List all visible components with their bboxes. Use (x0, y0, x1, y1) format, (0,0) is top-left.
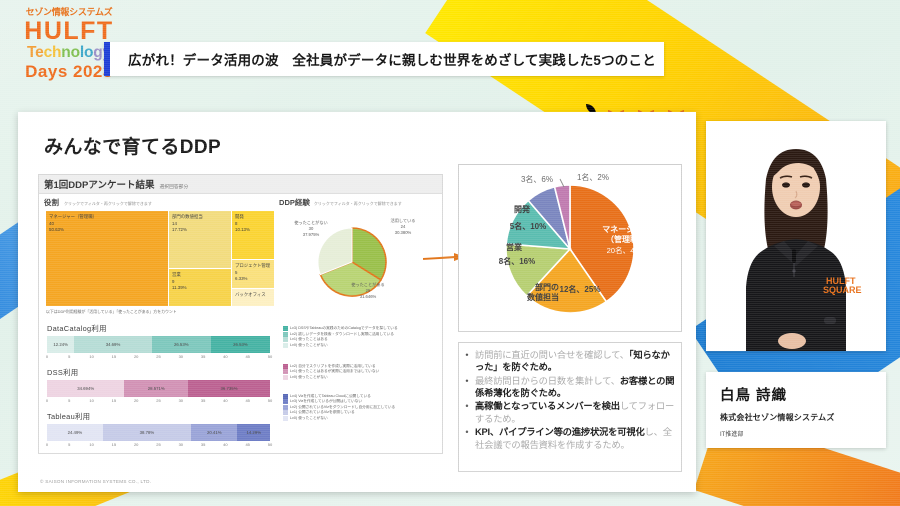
treemap-count: 40 (49, 221, 165, 228)
list-item: • 訪問前に直近の問い合せを確認して、「知らなかった」を防ぐため。 (463, 349, 675, 374)
small-pie-name: 使ったことがない (294, 220, 328, 225)
pie-value-other-b: 1名、2% (571, 173, 615, 183)
treemap-label: 開発 (235, 214, 271, 221)
treemap-label: マネージャー（管理職） (49, 214, 165, 221)
legend-swatch (283, 399, 288, 404)
dashboard-note: 選択回答部分 (159, 183, 188, 190)
bar-segment[interactable]: 26.53% (152, 336, 211, 353)
axis-tick: 10 (89, 354, 93, 359)
dashboard-section-titles: 役割 クリックでフィルタ・再クリックで解除できます DDP経験 クリックでフィル… (39, 194, 442, 208)
list-item: • KPI、パイプライン等の進捗状況を可視化し、全社会議での報告資料を作成するた… (463, 426, 675, 451)
dashboard-header: 第1回DDPアンケート結果 選択回答部分 (39, 175, 442, 194)
treemap-count: 5 (235, 270, 271, 277)
treemap-pct: 50.63% (49, 227, 165, 234)
treemap-cell[interactable]: 部門の数値担当 14 17.72% (169, 211, 231, 268)
pie-label-dept: 部門の数値担当 (507, 283, 559, 304)
legend-swatch (283, 405, 288, 410)
axis-tick: 50 (268, 442, 272, 447)
axis-tick: 40 (223, 354, 227, 359)
role-section-note: クリックでフィルタ・再クリックで解除できます (64, 201, 152, 207)
role-breakdown-pie-chart: マネージャー（管理職）20名、41% 部門の数値担当 12名、25% 営業 8名… (458, 164, 682, 332)
axis-tick: 35 (201, 398, 205, 403)
small-pie-label: 使ったことがない 30 37.975% (282, 220, 340, 238)
legend-label: Lv0) 使ったことがない (290, 375, 328, 380)
legend-item[interactable]: Lv1) 使ったことはあるが実際に活用まではしていない (283, 369, 437, 374)
small-pie-name: 活用している (391, 218, 416, 223)
legend-label: Lv1) 使ったことはあるが実際に活用まではしていない (290, 369, 379, 374)
legend-swatch (283, 410, 288, 415)
legend-item[interactable]: Lv3) Vizを作成しているが公開はしていない (283, 399, 437, 404)
speaker-company: 株式会社セゾン情報システムズ (720, 412, 886, 423)
legend-item[interactable]: Lv0) 使ったことがない (283, 343, 437, 348)
legend-label: Lv3) DSSやTableauの実践のためのCatalogでデータを探している (290, 326, 398, 331)
axis-tick: 15 (112, 354, 116, 359)
bar-axis: 0 5 10 15 20 25 30 35 40 45 50 (47, 397, 270, 406)
speaker-dept: IT推進部 (720, 429, 886, 438)
treemap-cell[interactable]: マネージャー（管理職） 40 50.63% (46, 211, 168, 306)
bullet-gray: 最終訪問日からの日数を集計して、 (475, 376, 620, 386)
treemap-pct: 6.33% (235, 276, 271, 283)
axis-tick: 35 (201, 354, 205, 359)
small-pie-pct: 30.380% (395, 230, 412, 235)
logo-hulft: HULFT (14, 19, 124, 44)
list-item: • 高稼働となっているメンバーを検出してフォローするため。 (463, 400, 675, 425)
logo-tagline: セゾン情報システムズ (14, 8, 124, 17)
pie-name-dev: 開発 (514, 205, 530, 214)
small-pie-count: 25 (366, 288, 371, 293)
axis-tick: 50 (268, 398, 272, 403)
legend-dss: Lv2) 自分でスクリプトを作成し実際に活用している Lv1) 使ったことはある… (283, 364, 437, 380)
bar-axis: 0 5 10 15 20 25 30 35 40 45 50 (47, 353, 270, 362)
axis-tick: 30 (179, 354, 183, 359)
pie-value-sales: 8名、16% (493, 257, 541, 267)
copyright: © SAISON INFORMATION SYSTEMS CO., LTD. (40, 479, 151, 484)
slide-panel: みんなで育てるDDP 第1回DDPアンケート結果 選択回答部分 役割 クリックで… (18, 112, 696, 492)
axis-tick: 15 (112, 442, 116, 447)
axis-tick: 25 (156, 442, 160, 447)
treemap-cell[interactable]: プロジェクト管理 5 6.33% (232, 260, 274, 288)
axis-tick: 45 (245, 398, 249, 403)
bullet-text: 最終訪問日からの日数を集計して、お客様との関係希薄化を防ぐため。 (475, 375, 675, 400)
axis-tick: 45 (245, 442, 249, 447)
legend-tableau: Lv4) Vizを作成してTableau Cloudに公開している Lv3) V… (283, 394, 437, 421)
role-section-title: 役割 (44, 197, 59, 208)
small-pie-name: 使ったことがある (351, 282, 385, 287)
stacked-bar[interactable]: 34.694% 28.571% 36.735% (47, 380, 270, 397)
treemap-cell[interactable]: 開発 8 10.13% (232, 211, 274, 259)
treemap-count: 8 (235, 221, 271, 228)
speaker-name-card: 白鳥 詩織 株式会社セゾン情報システムズ IT推進部 (706, 372, 886, 448)
legend-label: Lv0) 使ったことがない (290, 416, 328, 421)
legend-item[interactable]: Lv1) 公開されているVizを参照している (283, 410, 437, 415)
session-title-bar: 広がれ！データ活用の波 全社員がデータに親しむ世界をめざして実践した5つのこと (104, 42, 664, 76)
axis-tick: 0 (46, 398, 48, 403)
pie-value-manager: 20名、41% (607, 246, 646, 255)
axis-tick: 25 (156, 398, 160, 403)
list-item: • 最終訪問日からの日数を集計して、お客様との関係希薄化を防ぐため。 (463, 375, 675, 400)
bullet-gray: 訪問前に直近の問い合せを確認して、 (475, 350, 629, 360)
axis-tick: 40 (223, 398, 227, 403)
treemap-label: バックオフィス (235, 292, 271, 299)
bar-block-dss: DSS利用 34.694% 28.571% 36.735% 0 5 10 15 … (47, 367, 275, 406)
treemap-footnote: 以下はDDP利用経験が「活用している」「使ったことがある」方をカウント (46, 309, 274, 315)
session-title: 広がれ！データ活用の波 全社員がデータに親しむ世界をめざして実践した5つのこと (110, 49, 656, 69)
pie-value-other-a: 3名、6% (515, 175, 559, 185)
speaker-name: 白鳥 詩織 (720, 384, 886, 405)
legend-label: Lv1) 公開されているVizを参照している (290, 410, 355, 415)
bar-segment[interactable]: 24.49% (47, 424, 103, 441)
bar-block-datacatalog: DataCatalog利用 12.24% 34.69% 26.53% 26.53… (47, 323, 275, 362)
bar-segment[interactable]: 12.24% (47, 336, 74, 353)
legend-item[interactable]: Lv3) DSSやTableauの実践のためのCatalogでデータを探している (283, 326, 437, 331)
treemap-cell[interactable]: バックオフィス (232, 289, 274, 306)
legend-swatch (283, 369, 288, 374)
treemap-pct: 11.39% (172, 285, 228, 292)
legend-swatch (283, 364, 288, 369)
bullet-dot-icon: • (463, 400, 471, 425)
bullet-list: • 訪問前に直近の問い合せを確認して、「知らなかった」を防ぐため。 • 最終訪問… (458, 342, 682, 472)
bar-block-tableau: Tableau利用 24.49% 38.78% 20.41% 14.29% 0 … (47, 411, 275, 450)
bar-axis: 0 5 10 15 20 25 30 35 40 45 50 (47, 441, 270, 450)
axis-tick: 45 (245, 354, 249, 359)
legend-item[interactable]: Lv1) 使ったことはある (283, 337, 437, 342)
legend-item[interactable]: Lv0) 使ったことがない (283, 375, 437, 380)
bullet-dot-icon: • (463, 375, 471, 400)
ddp-section-note: クリックでフィルタ・再クリックで解除できます (314, 201, 402, 207)
bar-title: Tableau利用 (47, 411, 275, 422)
axis-tick: 0 (46, 442, 48, 447)
pie-value-dev: 5名、10% (503, 222, 553, 232)
dashboard-panel: 第1回DDPアンケート結果 選択回答部分 役割 クリックでフィルタ・再クリックで… (38, 174, 443, 454)
bar-title: DSS利用 (47, 367, 275, 378)
bar-segment[interactable]: 20.41% (191, 424, 237, 441)
bar-segment[interactable]: 26.53% (211, 336, 270, 353)
small-pie-count: 30 (309, 226, 314, 231)
legend-item[interactable]: Lv4) Vizを作成してTableau Cloudに公開している (283, 394, 437, 399)
legend-label: Lv2) 公開されているVizをダウンロードし自分用に加工している (290, 405, 395, 410)
bar-segment[interactable]: 14.29% (237, 424, 270, 441)
treemap-label: プロジェクト管理 (235, 263, 271, 270)
bar-segment[interactable]: 34.694% (47, 380, 124, 397)
small-pie-pct: 37.975% (303, 232, 320, 237)
legend-swatch (283, 337, 288, 342)
pie-value-dept: 12名、25% (559, 285, 601, 295)
bar-segment[interactable]: 34.69% (74, 336, 151, 353)
legend-swatch (283, 326, 288, 331)
role-treemap[interactable]: マネージャー（管理職） 40 50.63% 部門の数値担当 14 17.72% (46, 211, 274, 306)
axis-tick: 50 (268, 354, 272, 359)
axis-tick: 30 (179, 442, 183, 447)
legend-item[interactable]: Lv2) 自分でスクリプトを作成し実際に活用している (283, 364, 437, 369)
axis-tick: 5 (68, 354, 70, 359)
small-pie-label: 使ったことがある 25 31.646% (334, 282, 402, 300)
legend-swatch (283, 394, 288, 399)
axis-tick: 25 (156, 354, 160, 359)
bar-segment[interactable]: 38.78% (103, 424, 191, 441)
presentation-stage: セゾン情報システムズ HULFT Technology Days 2023 広が… (0, 0, 900, 506)
axis-tick: 40 (223, 442, 227, 447)
bullet-text: 高稼働となっているメンバーを検出してフォローするため。 (475, 400, 675, 425)
bullet-text: KPI、パイプライン等の進捗状況を可視化し、全社会議での報告資料を作成するため。 (475, 426, 675, 451)
ddp-experience-pie[interactable]: 活用している 24 30.380% 使ったことがある 25 31.646% 使っ… (280, 210, 438, 318)
treemap-pct: 10.13% (235, 227, 271, 234)
axis-tick: 30 (179, 398, 183, 403)
axis-tick: 15 (112, 398, 116, 403)
legend-datacatalog: Lv3) DSSやTableauの実践のためのCatalogでデータを探している… (283, 326, 437, 348)
treemap-cell[interactable]: 営業 9 11.39% (169, 269, 231, 306)
bullet-bold: KPI、パイプライン等の進捗状況を可視化 (475, 427, 645, 437)
small-pie-count: 24 (401, 224, 406, 229)
legend-label: Lv3) Vizを作成しているが公開はしていない (290, 399, 362, 404)
pie-name-sales: 営業 (506, 243, 522, 252)
bullet-text: 訪問前に直近の問い合せを確認して、「知らなかった」を防ぐため。 (475, 349, 675, 374)
small-pie-label: 活用している 24 30.380% (372, 218, 434, 236)
legend-swatch (283, 375, 288, 380)
dashboard-title: 第1回DDPアンケート結果 (44, 177, 154, 191)
legend-swatch (283, 343, 288, 348)
treemap-label: 営業 (172, 272, 228, 279)
axis-tick: 5 (68, 442, 70, 447)
treemap-count: 14 (172, 221, 228, 228)
stacked-bar[interactable]: 24.49% 38.78% 20.41% 14.29% (47, 424, 270, 441)
axis-tick: 20 (134, 442, 138, 447)
slide-title: みんなで育てるDDP (44, 132, 684, 159)
legend-label: Lv0) 使ったことがない (290, 343, 328, 348)
ddp-section-title: DDP経験 (279, 197, 310, 208)
axis-tick: 20 (134, 354, 138, 359)
treemap-label: 部門の数値担当 (172, 214, 228, 221)
axis-tick: 0 (46, 354, 48, 359)
presenter-video[interactable]: HULFT SQUARE (706, 121, 886, 351)
treemap-pct: 17.72% (172, 227, 228, 234)
bar-title: DataCatalog利用 (47, 323, 275, 334)
pie-label-dev: 開発 (501, 205, 543, 215)
legend-swatch (283, 332, 288, 337)
legend-label: Lv1) 使ったことはある (290, 337, 328, 342)
svg-text:SQUARE: SQUARE (823, 285, 862, 295)
legend-label: Lv2) 自分でスクリプトを作成し実際に活用している (290, 364, 376, 369)
treemap-count: 9 (172, 279, 228, 286)
axis-tick: 35 (201, 442, 205, 447)
axis-tick: 20 (134, 398, 138, 403)
bar-segment[interactable]: 28.571% (124, 380, 188, 397)
legend-item[interactable]: Lv0) 使ったことがない (283, 416, 437, 421)
legend-swatch (283, 416, 288, 421)
legend-item[interactable]: Lv2) 欲しいデータを検索・ダウンロードし実際に活用している (283, 332, 437, 337)
legend-item[interactable]: Lv2) 公開されているVizをダウンロードし自分用に加工している (283, 405, 437, 410)
axis-tick: 10 (89, 398, 93, 403)
axis-tick: 10 (89, 442, 93, 447)
bar-segment[interactable]: 36.735% (188, 380, 270, 397)
axis-tick: 5 (68, 398, 70, 403)
bullet-bold: 高稼働となっているメンバーを検出 (475, 401, 620, 411)
stacked-bar[interactable]: 12.24% 34.69% 26.53% 26.53% (47, 336, 270, 353)
pie-label-sales: 営業 (493, 243, 535, 253)
bullet-dot-icon: • (463, 426, 471, 451)
small-pie-pct: 31.646% (360, 294, 377, 299)
legend-label: Lv2) 欲しいデータを検索・ダウンロードし実際に活用している (290, 332, 394, 337)
bullet-dot-icon: • (463, 349, 471, 374)
legend-label: Lv4) Vizを作成してTableau Cloudに公開している (290, 394, 371, 399)
pie-label-manager: マネージャー（管理職）20名、41% (583, 225, 669, 256)
